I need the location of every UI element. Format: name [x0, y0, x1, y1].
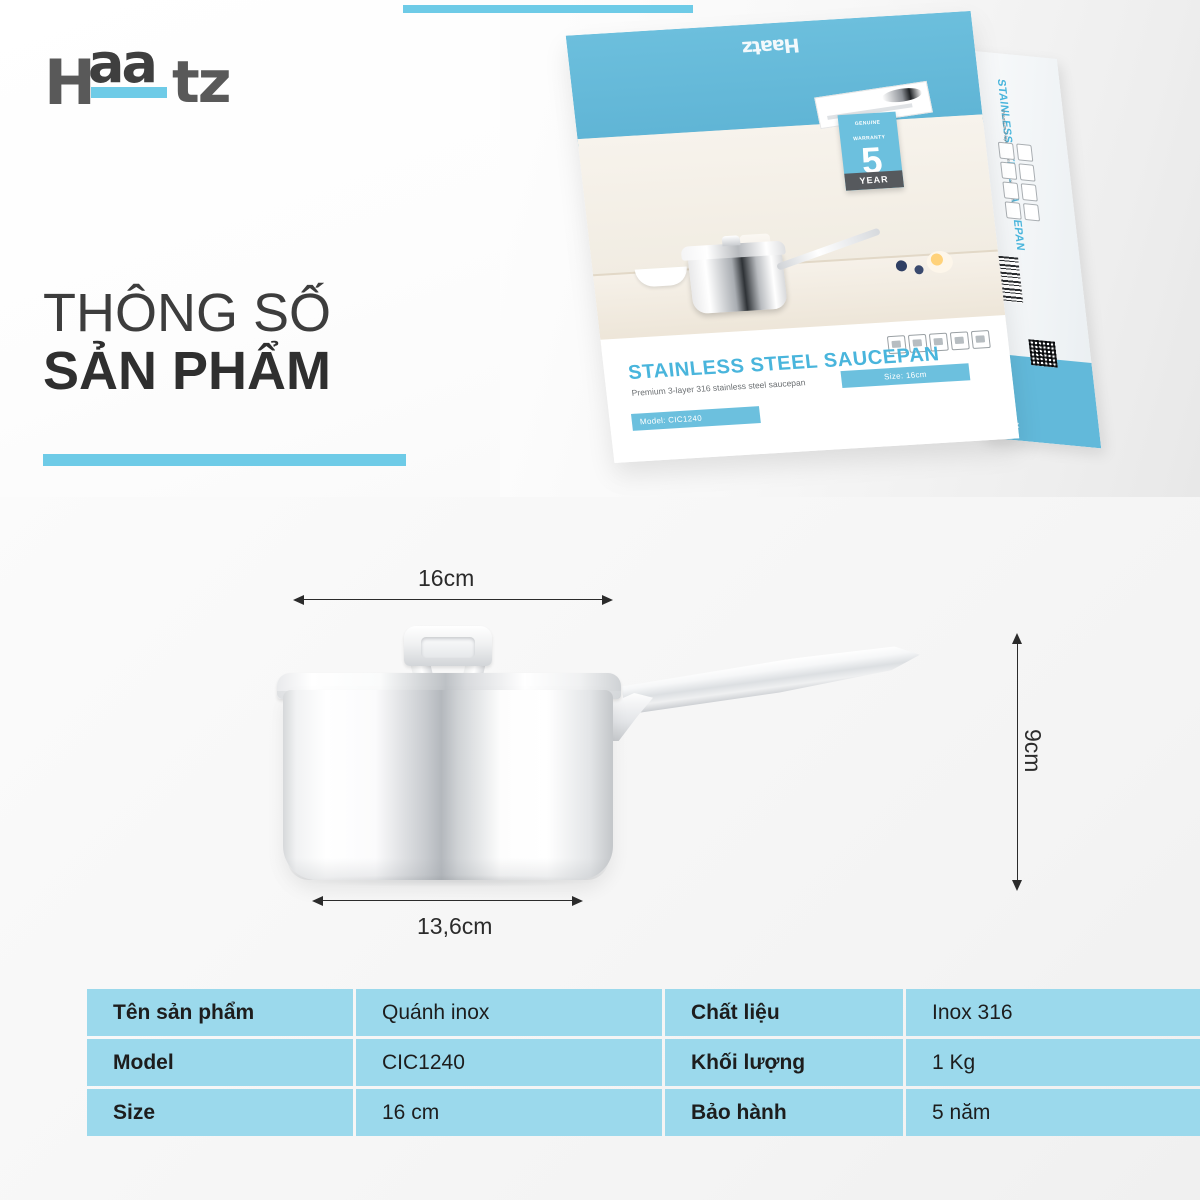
- package-front-panel: Haatz: [566, 11, 1019, 463]
- brand-logo: H aa tz: [44, 32, 314, 112]
- package-side-icon-grid: [998, 142, 1040, 222]
- page-title-accent-bar: [43, 454, 406, 466]
- header-section: H aa tz THÔNG SỐ SẢN PHẨM STAINLESS STEE…: [0, 0, 1200, 497]
- spec-value: 1 Kg: [906, 1039, 1200, 1086]
- microwave-icon: [971, 330, 991, 349]
- spec-value: 5 năm: [906, 1089, 1200, 1136]
- qr-code-icon: [1028, 339, 1057, 367]
- package-strip-image: [881, 86, 923, 105]
- feature-icon: [1002, 181, 1019, 199]
- feature-icon: [1023, 203, 1040, 221]
- package-label-model: Model: CIC1240: [631, 406, 761, 431]
- dimension-arrow-right-top: [602, 595, 613, 605]
- dishwasher-icon: [950, 331, 970, 350]
- dimension-arrow-left-bottom: [312, 896, 323, 906]
- feature-icon: [998, 142, 1015, 160]
- dimension-line-bottom-width: [323, 900, 573, 901]
- spec-key: Size: [87, 1089, 353, 1136]
- dimension-arrow-down: [1012, 880, 1022, 891]
- table-row: Size 16 cm Bảo hành 5 năm: [87, 1089, 1200, 1136]
- lid-handle-opening: [421, 637, 475, 658]
- logo-letters-tz: tz: [172, 48, 229, 116]
- page-title-line-1: THÔNG SỐ: [43, 284, 463, 342]
- table-row: Model CIC1240 Khối lượng 1 Kg: [87, 1039, 1200, 1086]
- saucepan-side-handle: [601, 679, 923, 753]
- feature-icon: [1021, 183, 1038, 201]
- spec-key: Khối lượng: [665, 1039, 903, 1086]
- spec-value: CIC1240: [356, 1039, 662, 1086]
- dimension-label-top-width: 16cm: [418, 565, 474, 592]
- page-title-line-2: SẢN PHẨM: [43, 342, 463, 400]
- warranty-unit-label: YEAR: [844, 170, 904, 190]
- package-top-flap-logo: Haatz: [741, 34, 800, 59]
- dimension-arrow-left-top: [293, 595, 304, 605]
- logo-letters-aa: aa: [88, 32, 155, 95]
- saucepan-lid-handle: [404, 626, 492, 678]
- spec-value: Quánh inox: [356, 989, 662, 1036]
- saucepan-shadow: [301, 875, 601, 887]
- spec-value: Inox 316: [906, 989, 1200, 1036]
- specification-table: Tên sản phẩm Quánh inox Chất liệu Inox 3…: [84, 986, 1200, 1139]
- scene-saucepan: [688, 251, 789, 314]
- dimension-line-height: [1017, 643, 1018, 881]
- warranty-badge: GENUINE WARRANTY 5 YEAR: [837, 112, 904, 191]
- dimension-arrow-up: [1012, 633, 1022, 644]
- package-label-area: STAINLESS STEEL SAUCEPAN Premium 3-layer…: [600, 315, 1019, 463]
- specification-table-body: Tên sản phẩm Quánh inox Chất liệu Inox 3…: [87, 989, 1200, 1136]
- scene-saucepan-knob: [721, 235, 740, 246]
- product-package-image: STAINLESS STEEL SAUCEPAN Premium 3-layer…: [530, 0, 1090, 497]
- spec-key: Chất liệu: [665, 989, 903, 1036]
- feature-icon: [1000, 162, 1017, 180]
- spec-key: Bảo hành: [665, 1089, 903, 1136]
- dimension-label-bottom-width: 13,6cm: [417, 913, 492, 940]
- page-title: THÔNG SỐ SẢN PHẨM: [43, 284, 463, 401]
- feature-icon: [1018, 163, 1035, 181]
- feature-icon: [1005, 201, 1022, 219]
- product-spec-page: H aa tz THÔNG SỐ SẢN PHẨM STAINLESS STEE…: [0, 0, 1200, 1200]
- spec-value: 16 cm: [356, 1089, 662, 1136]
- spec-key: Model: [87, 1039, 353, 1086]
- feature-icon: [1016, 143, 1033, 161]
- saucepan-body: [283, 690, 613, 880]
- package-scene-photo: [578, 114, 1007, 349]
- table-row: Tên sản phẩm Quánh inox Chất liệu Inox 3…: [87, 989, 1200, 1036]
- handle-body: [621, 642, 923, 715]
- logo-underline-accent: [91, 87, 167, 98]
- lid-handle-loop: [404, 626, 492, 666]
- dimension-label-height: 9cm: [1019, 729, 1046, 772]
- dimension-line-top-width: [303, 599, 603, 600]
- dimension-arrow-right-bottom: [572, 896, 583, 906]
- spec-key: Tên sản phẩm: [87, 989, 353, 1036]
- saucepan-photo: [283, 617, 923, 917]
